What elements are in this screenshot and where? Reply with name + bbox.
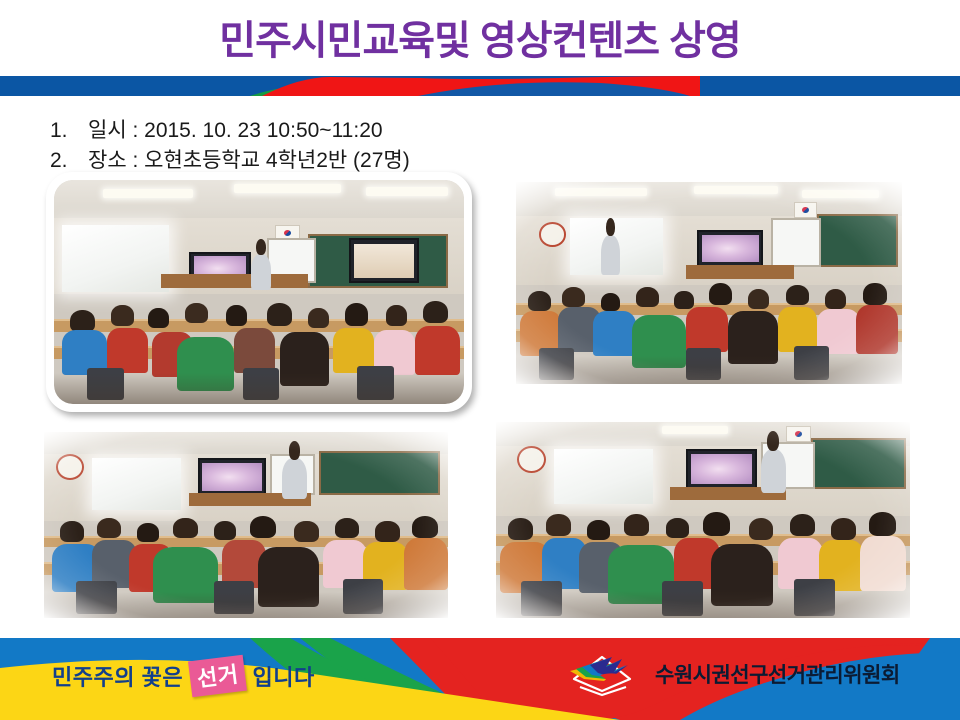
info-list: 1. 일시 : 2015. 10. 23 10:50~11:20 2. 장소 :… [50, 116, 410, 176]
classroom-scene [54, 180, 464, 404]
classroom-scene [516, 182, 902, 384]
slogan-text-after: 입니다 [253, 660, 315, 692]
presentation-slide: 민주시민교육및 영상컨텐츠 상영 1. 일시 : 2015. 10. 23 10… [0, 0, 960, 720]
slogan-text-before: 민주주의 꽃은 [52, 660, 183, 692]
classroom-photo-top-right [516, 182, 902, 384]
footer-organization-name: 수원시권선구선거관리위원회 [655, 659, 900, 689]
classroom-scene [44, 432, 448, 618]
list-item: 1. 일시 : 2015. 10. 23 10:50~11:20 [50, 116, 410, 146]
list-item-text: 일시 : 2015. 10. 23 10:50~11:20 [88, 116, 383, 146]
header-decorative-band [0, 76, 960, 96]
slogan-highlight: 선거 [188, 655, 247, 697]
page-title: 민주시민교육및 영상컨텐츠 상영 [0, 18, 960, 64]
classroom-photo-main [46, 172, 472, 412]
list-item-number: 1. [50, 116, 88, 146]
classroom-scene [496, 422, 910, 618]
ballot-box-bird-logo-graphic [560, 645, 646, 699]
ballot-box-bird-logo [560, 645, 646, 699]
footer-slogan: 민주주의 꽃은 선거 입니다 [52, 658, 315, 694]
classroom-photo-bottom-right [496, 422, 910, 618]
header-band-graphic [0, 76, 960, 96]
classroom-photo-bottom-left [44, 432, 448, 618]
